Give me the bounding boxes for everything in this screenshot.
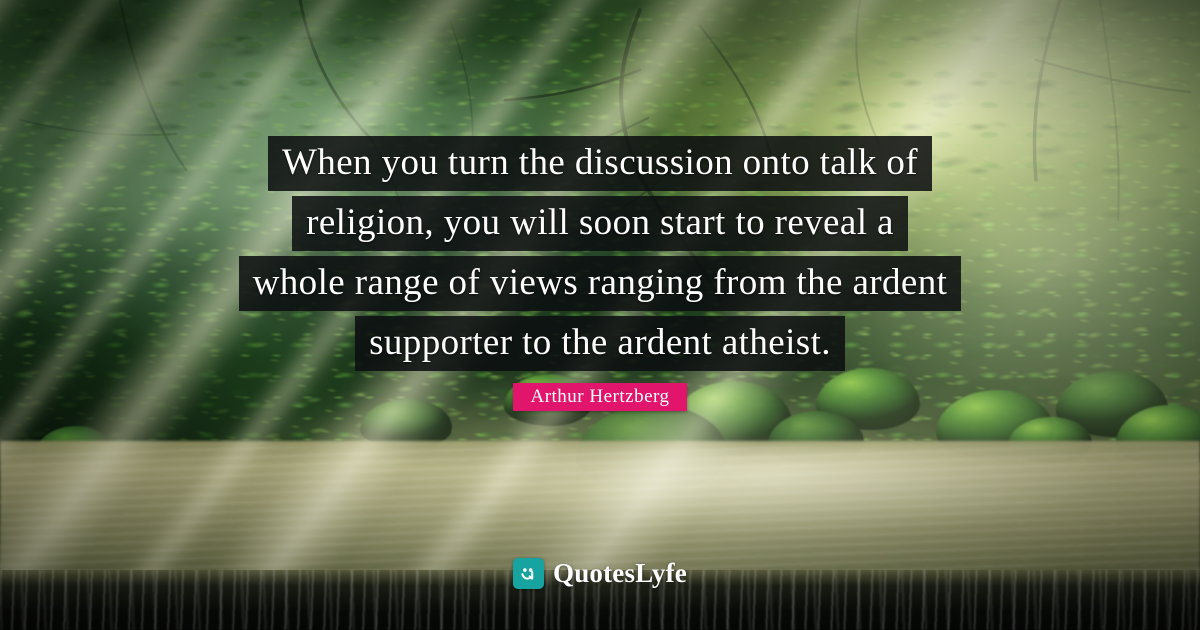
quote-line: When you turn the discussion onto talk o…: [268, 136, 932, 191]
quote-line: supporter to the ardent atheist.: [355, 316, 845, 371]
author-attribution: Arthur Hertzberg: [0, 383, 1200, 411]
smiley-quote-icon: [513, 558, 544, 589]
brand-logo[interactable]: QuotesLyfe: [0, 558, 1200, 589]
quote-line: religion, you will soon start to reveal …: [292, 196, 908, 251]
quote-poster: When you turn the discussion onto talk o…: [0, 0, 1200, 630]
quote-line: whole range of views ranging from the ar…: [239, 256, 962, 311]
quote-text: When you turn the discussion onto talk o…: [0, 136, 1200, 376]
author-name-badge[interactable]: Arthur Hertzberg: [513, 383, 686, 411]
brand-name: QuotesLyfe: [553, 558, 687, 589]
